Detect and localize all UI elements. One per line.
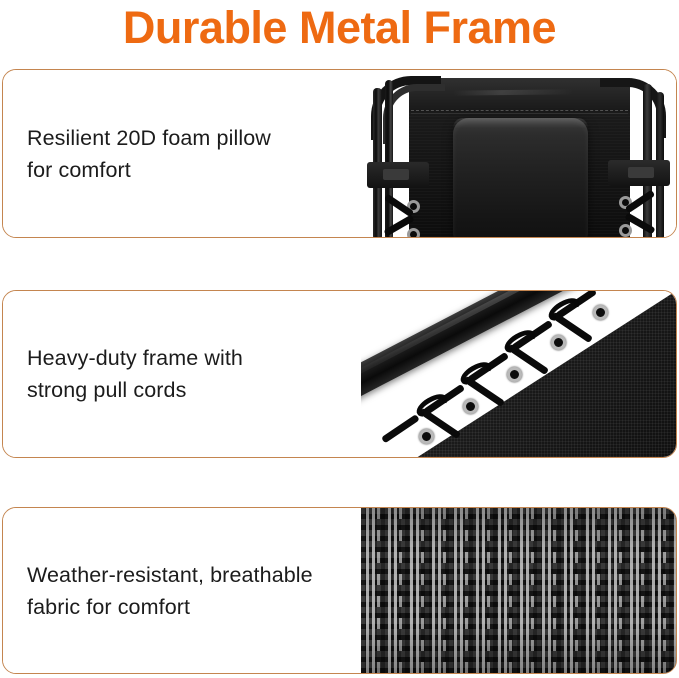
feature-text-frame: Heavy-duty frame with strong pull cords [3,291,361,457]
grommet-1 [593,305,608,320]
grommet-2 [551,335,566,350]
feature-line-1: Heavy-duty frame with [27,342,353,374]
strap-velcro-left [383,169,409,180]
feature-line-1: Resilient 20D foam pillow [27,122,353,154]
frame-pull-cords-photo [361,291,676,457]
grommet-3 [507,367,522,382]
page-title: Durable Metal Frame [0,0,679,58]
feature-panel-frame: Heavy-duty frame with strong pull cords [2,290,677,458]
textilene-fabric-photo [361,508,676,673]
foam-pillow [453,118,588,237]
feature-text-fabric: Weather-resistant, breathable fabric for… [3,508,361,673]
grommet-4 [463,399,478,414]
feature-line-2: for comfort [27,154,353,186]
feature-text-pillow: Resilient 20D foam pillow for comfort [3,70,361,237]
frame-leg-left-inner [385,80,393,237]
feature-line-1: Weather-resistant, breathable [27,559,353,591]
grommet-5 [419,429,434,444]
feature-line-2: fabric for comfort [27,591,353,623]
weave-vignette [361,508,676,673]
feature-line-2: strong pull cords [27,374,353,406]
fabric-strap-left [367,162,429,188]
infographic-page: Durable Metal Frame Resilient 20D foam p… [0,0,679,678]
foam-pillow-top-edge [453,118,588,128]
cot-headrest-photo [361,70,676,237]
feature-panel-fabric: Weather-resistant, breathable fabric for… [2,507,677,674]
grommet-left-lower [407,228,420,237]
grommet-right-lower [619,224,632,237]
pull-cord-5a [381,414,420,443]
feature-panel-pillow: Resilient 20D foam pillow for comfort [2,69,677,238]
strap-velcro-right [628,167,654,178]
fabric-strap-right [608,160,670,186]
